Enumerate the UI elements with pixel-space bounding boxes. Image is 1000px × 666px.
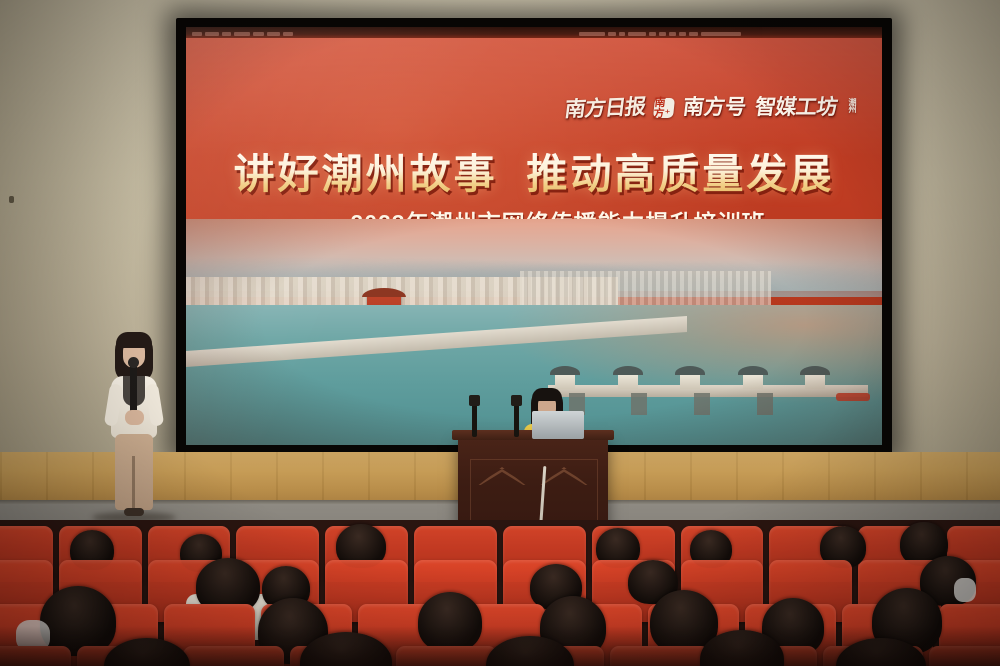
presenter-laptop [532,411,584,439]
speaker-hands [125,410,144,425]
zhimei-workshop-logo: 智媒工坊 [754,97,839,118]
handheld-microphone [130,362,137,414]
conference-hall-photo: 南方日报 南方⁺ 南方号 智媒工坊 潮州 讲好潮州故事 推动高质量发展 ——20… [0,0,1000,666]
zhimei-workshop-locality-label: 潮州 [848,98,856,112]
slide-logo-row: 南方日报 南方⁺ 南方号 智媒工坊 潮州 [565,97,856,118]
presenter-fringe [532,388,562,401]
speaker-fringe [116,332,152,348]
nanfang-hao-logo: 南方号 [682,97,748,118]
standing-speaker [103,332,165,517]
audience-face-mask [954,578,976,602]
speaker-trousers [115,434,153,510]
speaker-shoes [124,508,144,516]
lectern-microphone-left [472,403,477,437]
nanfang-hao-app-icon: 南方⁺ [653,98,675,118]
wall-fixture-dot [9,196,14,203]
lectern-microphone-right [514,403,519,437]
audience-seating [0,520,1000,666]
nanfang-daily-logo: 南方日报 [564,96,647,120]
projection-screen: 南方日报 南方⁺ 南方号 智媒工坊 潮州 讲好潮州故事 推动高质量发展 ——20… [186,27,882,445]
right-wall-shading [880,0,1000,452]
seating-foreground-shadow [0,626,1000,666]
slide-headline: 讲好潮州故事 推动高质量发展 [186,153,882,196]
